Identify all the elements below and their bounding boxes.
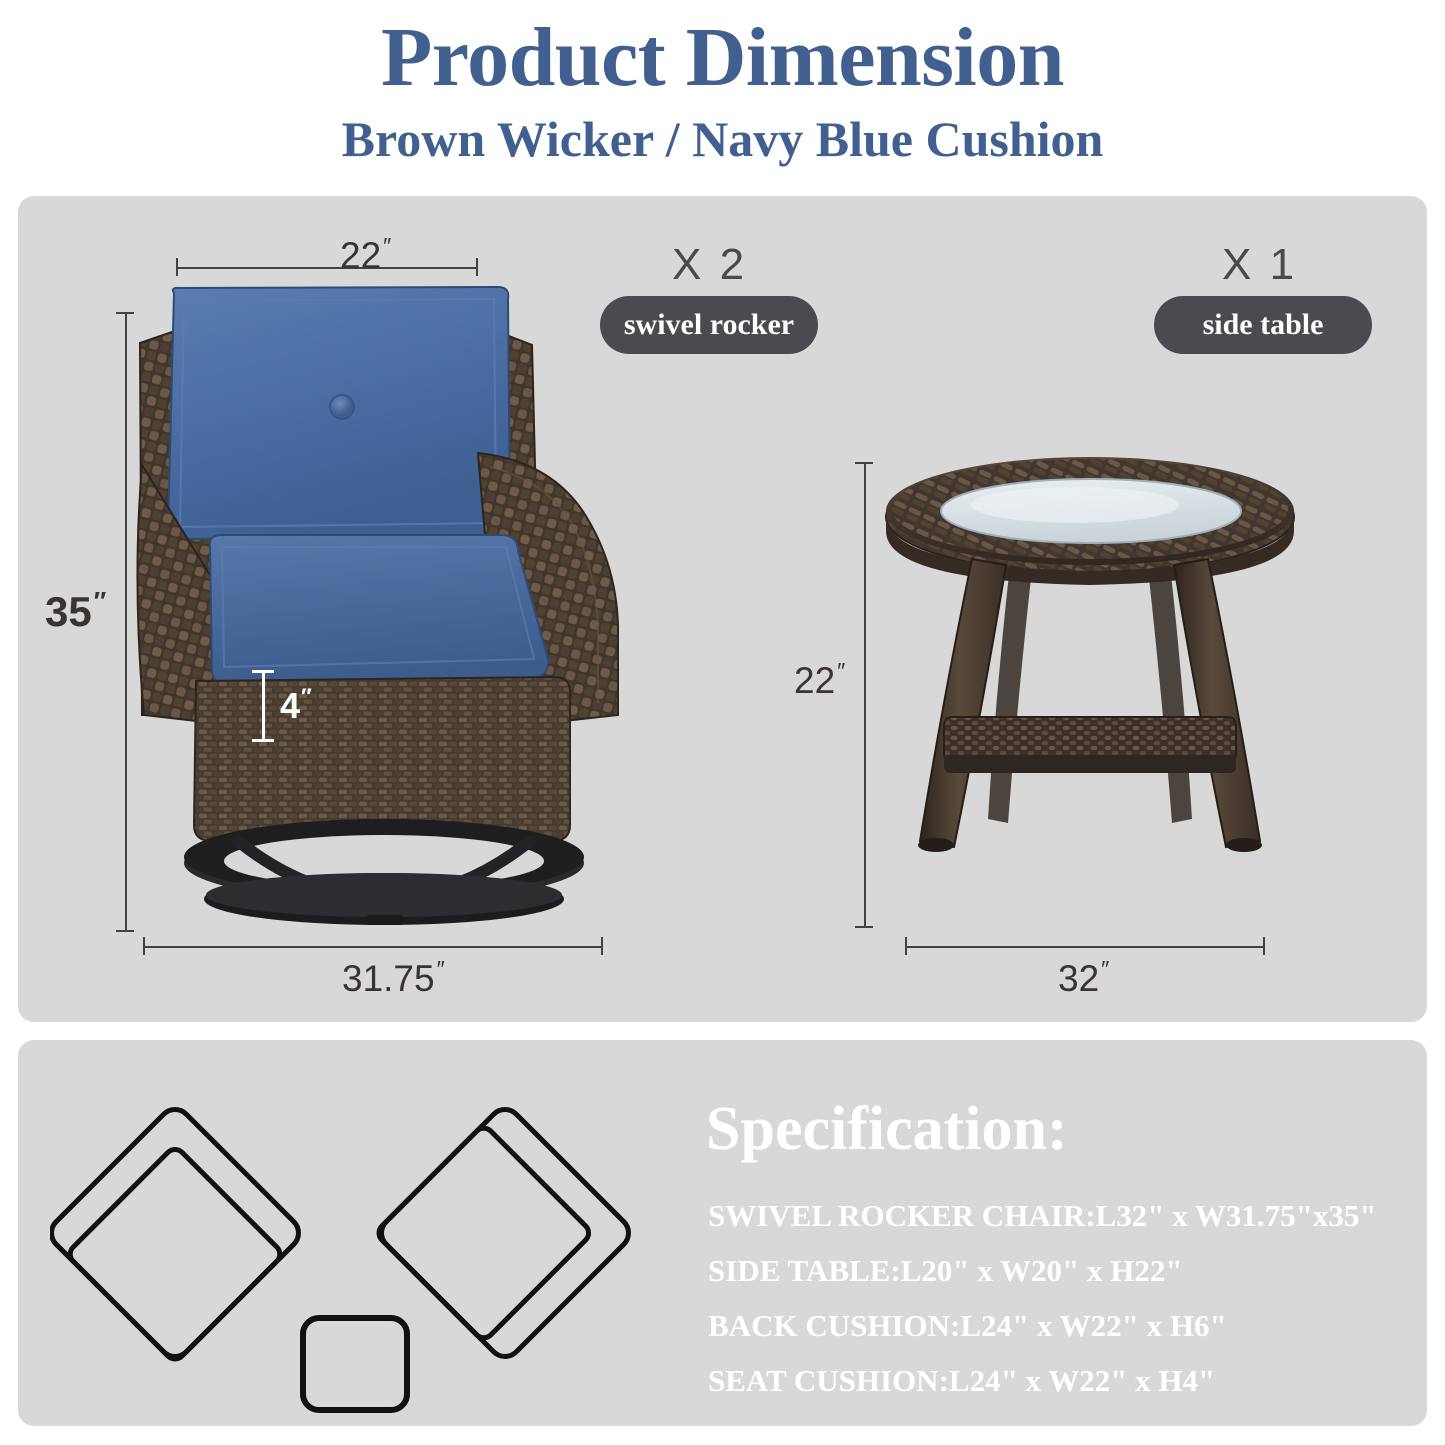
spec-line-back-cushion: BACK CUSHION:L24" x W22" x H6" xyxy=(708,1310,1227,1341)
chair-width-dimension-line xyxy=(176,267,478,269)
chair-height-tick-top xyxy=(116,312,134,314)
chair-width-label: 22″ xyxy=(340,235,390,274)
page-header: Product Dimension Brown Wicker / Navy Bl… xyxy=(0,0,1445,180)
spec-line-chair: SWIVEL ROCKER CHAIR:L32" x W31.75"x35" xyxy=(708,1200,1377,1231)
table-type-badge: side table xyxy=(1154,296,1372,354)
side-table-top-view xyxy=(303,1318,407,1410)
table-width-dimension-line xyxy=(905,946,1265,948)
chair-height-dimension-line xyxy=(125,312,127,932)
seat-cushion-label: 4″ xyxy=(280,686,312,724)
chair-depth-label: 31.75″ xyxy=(342,958,444,997)
chair-width-tick-right xyxy=(476,258,478,276)
spec-line-side-table: SIDE TABLE:L20" x W20" x H22" xyxy=(708,1255,1183,1286)
chair-width-tick-left xyxy=(176,258,178,276)
table-height-tick-top xyxy=(855,462,873,464)
swivel-rocker-chair-image xyxy=(118,285,638,950)
seat-cushion-dimension-line xyxy=(262,670,265,742)
table-height-dimension-line xyxy=(864,462,866,928)
chair-type-badge: swivel rocker xyxy=(600,296,818,354)
seat-cushion-tick-bottom xyxy=(252,739,274,742)
table-type-badge-label: side table xyxy=(1203,308,1324,342)
spec-line-seat-cushion: SEAT CUSHION:L24" x W22" x H4" xyxy=(708,1365,1215,1396)
table-count-label: X 1 xyxy=(1222,243,1297,287)
specification-heading: Specification: xyxy=(706,1098,1068,1160)
page-subtitle: Brown Wicker / Navy Blue Cushion xyxy=(0,100,1445,164)
table-width-tick-left xyxy=(905,937,907,955)
layout-top-view-diagram xyxy=(50,1085,690,1415)
chair-top-view-right xyxy=(375,1103,635,1363)
chair-depth-tick-right xyxy=(601,937,603,955)
chair-count-label: X 2 xyxy=(672,243,747,287)
table-height-tick-bottom xyxy=(855,926,873,928)
chair-depth-tick-left xyxy=(143,937,145,955)
table-height-label: 22″ xyxy=(794,660,844,699)
chair-depth-dimension-line xyxy=(143,946,603,948)
chair-height-label: 35″ xyxy=(45,588,105,633)
chair-top-view-left xyxy=(50,1103,305,1363)
table-width-label: 32″ xyxy=(1058,958,1108,997)
seat-cushion-tick-top xyxy=(252,670,274,673)
side-table-image xyxy=(880,455,1300,935)
table-width-tick-right xyxy=(1263,937,1265,955)
page-title: Product Dimension xyxy=(0,0,1445,100)
chair-height-tick-bottom xyxy=(116,930,134,932)
chair-type-badge-label: swivel rocker xyxy=(624,308,794,342)
